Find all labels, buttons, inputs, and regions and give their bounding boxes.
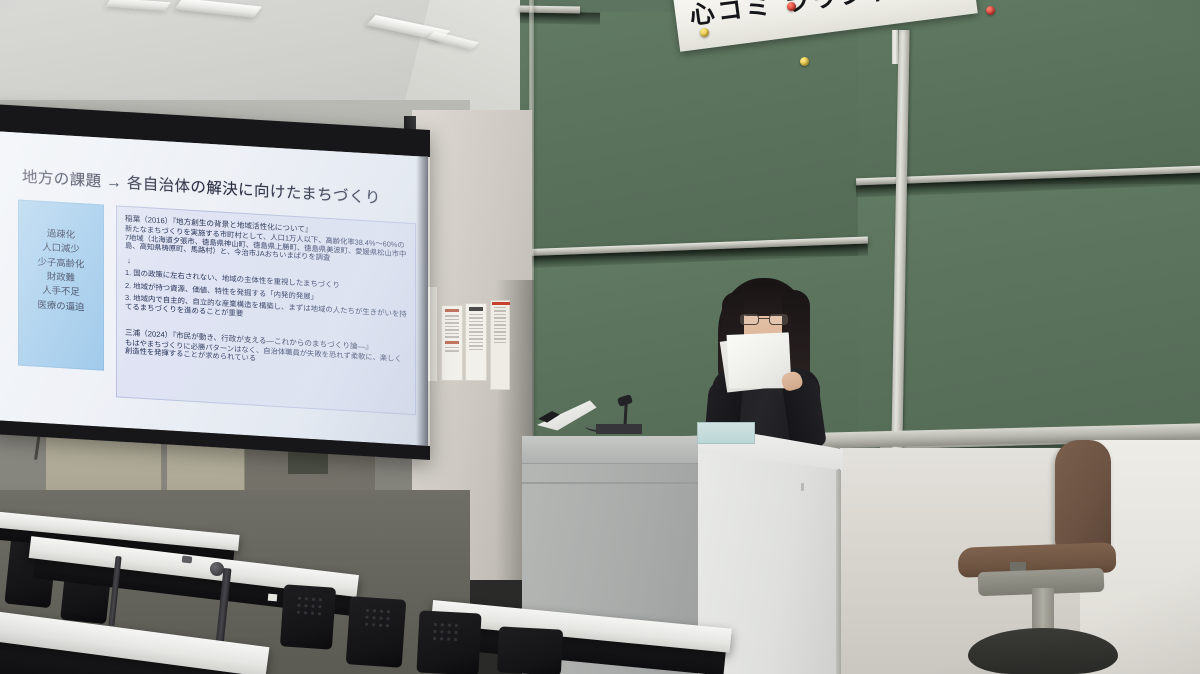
chair-five-star-base [968,628,1118,674]
wall-notice-poster [490,300,510,390]
wall-notice-poster [441,305,463,381]
yellow-pin-icon [700,28,709,37]
projection-screen: 地方の課題 → 各自治体の解決に向けたまちづくり 過疎化 人口減少 少子高齢化 … [0,104,430,460]
brown-office-chair-backrest [1055,440,1111,556]
citation-box: 稲葉（2016）『地方創生の背景と地域活性化について』 新たなまちづくりを実施す… [116,205,416,415]
eyeglass-lens-left [740,314,759,325]
lectern-glass-panel [697,422,755,444]
eyeglasses-icon [740,314,788,325]
chair-back-perforation [295,595,322,617]
lectern-panel-seam [522,482,702,484]
black-stacking-chair [346,596,407,668]
eyeglass-lens-right [769,314,788,325]
chalkboard-panel-lower-right [858,184,1200,454]
black-stacking-chair [497,626,563,674]
poster-red-tab [492,302,510,305]
issue-item: 財政難 [47,271,75,283]
issue-item: 医療の逼迫 [38,299,85,313]
eyeglass-bridge [759,318,769,319]
lecture-room-photo: 心コミ ラウンドテ [0,0,1200,674]
lectern-lock[interactable] [801,483,804,491]
desk-latch [182,555,193,563]
podium-control-box [596,424,642,434]
issue-item: 人手不足 [42,285,80,298]
red-pin-icon [787,2,796,11]
issue-item: 少子高齢化 [38,256,85,270]
issue-item: 人口減少 [42,242,80,255]
chair-back-perforation [363,607,390,629]
issue-item: 過疎化 [47,228,75,240]
red-pin-icon [986,6,995,15]
wall-notice-poster [465,303,487,381]
slide-body: 過疎化 人口減少 少子高齢化 財政難 人手不足 医療の逼迫 稲葉（2016）『地… [12,199,416,415]
yellow-pin-icon [800,57,809,66]
desk-label-tab [268,594,278,602]
presentation-slide: 地方の課題 → 各自治体の解決に向けたまちづくり 過疎化 人口減少 少子高齢化 … [0,131,428,446]
screen-surface: 地方の課題 → 各自治体の解決に向けたまちづくり 過疎化 人口減少 少子高齢化 … [0,131,428,446]
banner-support-pole [892,30,898,64]
lectern-worktop [522,436,702,464]
regional-issues-box: 過疎化 人口減少 少子高齢化 財政難 人手不足 医療の逼迫 [18,200,104,371]
lectern-right-edge [836,470,841,674]
chair-back-perforation [431,621,458,642]
black-stacking-chair [280,584,336,649]
